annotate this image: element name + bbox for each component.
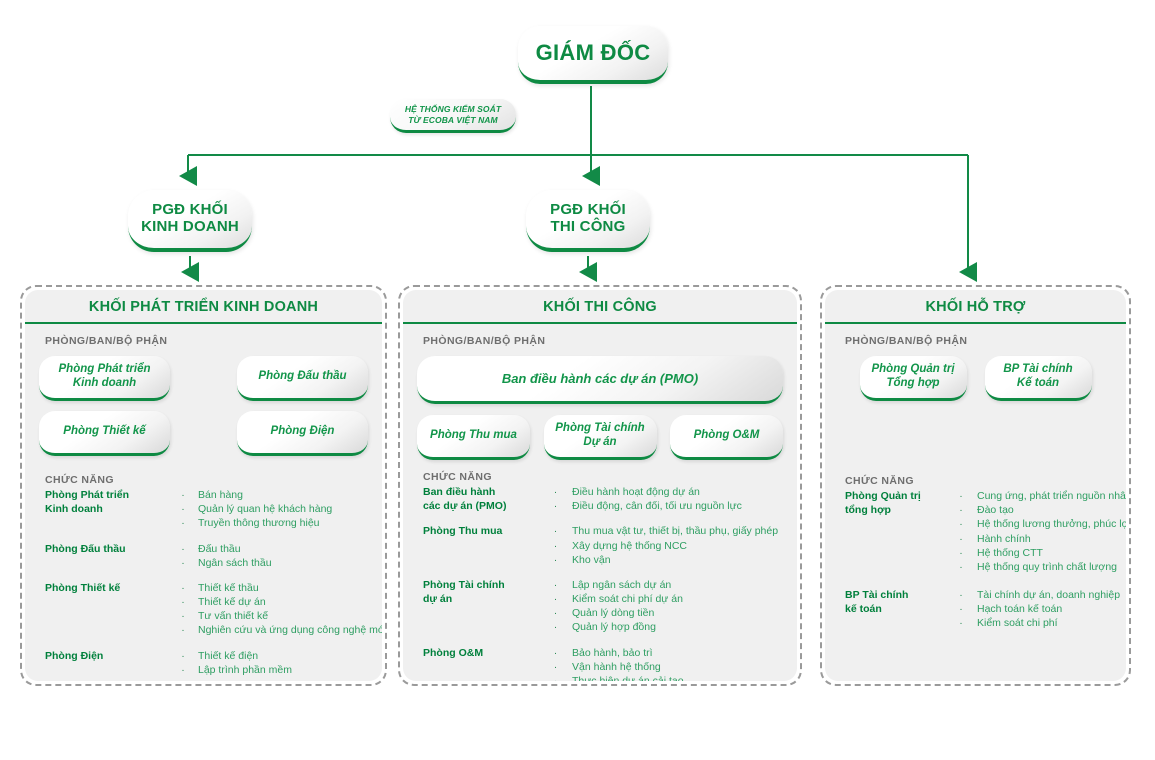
bullet-icon: ·: [945, 517, 977, 531]
function-name-line1: Phòng Tài chính: [423, 578, 539, 592]
bullet-icon: ·: [168, 516, 198, 530]
column-business-development: KHỐI PHÁT TRIỂN KINH DOANH PHÒNG/BAN/BỘ …: [20, 285, 387, 686]
dept-line2: Dự án: [555, 436, 644, 450]
column-title-business: KHỐI PHÁT TRIỂN KINH DOANH: [25, 290, 382, 324]
bullet-icon: ·: [168, 502, 198, 516]
dept-line1: Phòng Điện: [271, 425, 335, 439]
org-chart-canvas: GIÁM ĐỐC HỆ THỐNG KIỂM SOÁT TỪ ECOBA VIỆ…: [0, 0, 1155, 760]
function-name-line2: kế toán: [845, 602, 945, 616]
department-box-dien[interactable]: Phòng Điện: [237, 411, 368, 456]
function-group: Phòng Điện · · Thiết kế điện Lập trình p…: [45, 649, 368, 677]
function-group: Phòng Đấu thầu · · Đấu thầu Ngân sách th…: [45, 542, 368, 570]
functions-heading-2: CHỨC NĂNG: [403, 460, 797, 483]
functions-list-1: Phòng Phát triển Kinh doanh · · · Bán hà…: [25, 486, 382, 677]
function-item: Xây dựng hệ thống NCC: [572, 539, 783, 553]
node-deputy-business[interactable]: PGĐ KHỐI KINH DOANH: [128, 190, 252, 252]
function-bullets: · ·: [168, 649, 198, 677]
function-item: Hạch toán kế toán: [977, 602, 1120, 616]
function-group: Phòng Thiết kế · · · · Thiết kế thầu Thi…: [45, 581, 368, 638]
function-name-line1: Phòng Đấu thầu: [45, 542, 168, 556]
column-construction: KHỐI THI CÔNG PHÒNG/BAN/BỘ PHẬN Ban điều…: [398, 285, 802, 686]
function-name-line1: Phòng Thu mua: [423, 524, 539, 538]
departments-grid-3: Phòng Quản trị Tổng hợp BP Tài chính Kế …: [825, 347, 1126, 401]
bullet-icon: ·: [945, 489, 977, 503]
bullet-icon: ·: [168, 623, 198, 637]
function-bullets: · · ·: [945, 588, 977, 631]
function-item: Đào tạo: [977, 503, 1126, 517]
function-bullets: · · · ·: [168, 581, 198, 638]
function-name-line2: dự án: [423, 592, 539, 606]
dept-line1: Phòng Quản trị: [871, 363, 954, 377]
control-system-badge[interactable]: HỆ THỐNG KIỂM SOÁT TỪ ECOBA VIỆT NAM: [390, 99, 516, 133]
function-item: Cung ứng, phát triển nguồn nhân lực: [977, 489, 1126, 503]
bullet-icon: ·: [945, 616, 977, 630]
column-construction-panel: KHỐI THI CÔNG PHÒNG/BAN/BỘ PHẬN Ban điều…: [403, 290, 797, 681]
function-items: Đấu thầu Ngân sách thầu: [198, 542, 368, 570]
function-name-line2: Kinh doanh: [45, 502, 168, 516]
function-name-line1: BP Tài chính: [845, 588, 945, 602]
function-items: Thu mua vật tư, thiết bị, thầu phụ, giấy…: [572, 524, 783, 567]
dept-line2: Kế toán: [1003, 377, 1072, 391]
functions-heading-1: CHỨC NĂNG: [25, 466, 382, 486]
bullet-icon: ·: [539, 592, 572, 606]
function-name-line1: Phòng Điện: [45, 649, 168, 663]
function-item: Điều động, cân đối, tối ưu nguồn lực: [572, 499, 783, 513]
function-name-line2: các dự án (PMO): [423, 499, 539, 513]
department-box-quan-tri-tong-hop[interactable]: Phòng Quản trị Tổng hợp: [860, 356, 967, 401]
node-director[interactable]: GIÁM ĐỐC: [518, 26, 668, 84]
node-deputy-business-line1: PGĐ KHỐI: [141, 202, 239, 219]
department-box-pmo[interactable]: Ban điều hành các dự án (PMO): [417, 356, 783, 404]
column-title-construction: KHỐI THI CÔNG: [403, 290, 797, 324]
function-item: Hệ thống quy trình chất lượng: [977, 560, 1126, 574]
function-name-line1: Phòng Phát triển: [45, 488, 168, 502]
bullet-icon: ·: [945, 602, 977, 616]
function-items: Cung ứng, phát triển nguồn nhân lực Đào …: [977, 489, 1126, 574]
functions-heading-3: CHỨC NĂNG: [825, 401, 1126, 487]
bullet-icon: ·: [539, 485, 572, 499]
function-bullets: · · · · · ·: [945, 489, 977, 574]
function-item: Tư vấn thiết kế: [198, 609, 382, 623]
function-item: Nghiên cứu và ứng dụng công nghệ mới: [198, 623, 382, 637]
dept-line1: Phòng Đấu thầu: [258, 370, 346, 384]
function-items: Điều hành hoạt động dự án Điều động, cân…: [572, 485, 783, 513]
node-director-label: GIÁM ĐỐC: [536, 41, 651, 66]
function-item: Đấu thầu: [198, 542, 368, 556]
function-items: Tài chính dự án, doanh nghiệp Hạch toán …: [977, 588, 1120, 631]
department-row: Phòng Phát triển Kinh doanh Phòng Đấu th…: [39, 356, 368, 401]
function-items: Thiết kế điện Lập trình phần mềm: [198, 649, 368, 677]
function-item: Kiểm soát chi phí dự án: [572, 592, 783, 606]
function-item: Quản lý hợp đồng: [572, 620, 783, 634]
bullet-icon: ·: [539, 524, 572, 538]
function-item: Vận hành hệ thống: [572, 660, 783, 674]
function-items: Thiết kế thầu Thiết kế dự án Tư vấn thiế…: [198, 581, 382, 638]
function-group: Phòng Quản trị tổng hợp · · · · · · Cung…: [845, 489, 1112, 574]
function-bullets: · · ·: [539, 646, 572, 681]
bullet-icon: ·: [945, 532, 977, 546]
dept-line1: Phòng Thu mua: [430, 429, 517, 443]
function-group: Phòng Tài chính dự án · · · · Lập ngân s…: [423, 578, 783, 635]
function-group-name: Phòng Thiết kế: [45, 581, 168, 638]
function-items: Bảo hành, bảo trì Vận hành hệ thống Thực…: [572, 646, 783, 681]
department-box-tai-chinh-du-an[interactable]: Phòng Tài chính Dự án: [544, 415, 657, 460]
function-group: Phòng Thu mua · · · Thu mua vật tư, thiế…: [423, 524, 783, 567]
function-group-name: Phòng Quản trị tổng hợp: [845, 489, 945, 574]
function-group-name: Phòng Tài chính dự án: [423, 578, 539, 635]
department-row: Phòng Quản trị Tổng hợp BP Tài chính Kế …: [839, 356, 1112, 401]
function-item: Hệ thống CTT: [977, 546, 1126, 560]
department-row: Phòng Thu mua Phòng Tài chính Dự án Phòn…: [417, 415, 783, 460]
node-deputy-construction-line1: PGĐ KHỐI: [550, 202, 626, 219]
column-business-development-panel: KHỐI PHÁT TRIỂN KINH DOANH PHÒNG/BAN/BỘ …: [25, 290, 382, 681]
bullet-icon: ·: [168, 663, 198, 677]
function-bullets: · ·: [168, 542, 198, 570]
function-items: Lập ngân sách dự án Kiểm soát chi phí dự…: [572, 578, 783, 635]
function-item: Thu mua vật tư, thiết bị, thầu phụ, giấy…: [572, 524, 783, 538]
bullet-icon: ·: [168, 581, 198, 595]
bullet-icon: ·: [539, 646, 572, 660]
function-item: Kho vận: [572, 553, 783, 567]
function-bullets: · · ·: [539, 524, 572, 567]
function-item: Quản lý quan hệ khách hàng: [198, 502, 368, 516]
function-group: Phòng O&M · · · Bảo hành, bảo trì Vận hà…: [423, 646, 783, 681]
function-group-name: Phòng Thu mua: [423, 524, 539, 567]
dept-line1: Phòng Tài chính: [555, 422, 644, 436]
department-box-om[interactable]: Phòng O&M: [670, 415, 783, 460]
function-item: Hành chính: [977, 532, 1126, 546]
dept-line2: Tổng hợp: [871, 377, 954, 391]
function-bullets: · · · ·: [539, 578, 572, 635]
department-box-dau-thau[interactable]: Phòng Đấu thầu: [237, 356, 368, 401]
dept-line1: Phòng O&M: [694, 429, 760, 443]
function-group: BP Tài chính kế toán · · · Tài chính dự …: [845, 588, 1112, 631]
function-item: Bảo hành, bảo trì: [572, 646, 783, 660]
function-group-name: Phòng Đấu thầu: [45, 542, 168, 570]
bullet-icon: ·: [945, 588, 977, 602]
department-box-tai-chinh-ke-toan[interactable]: BP Tài chính Kế toán: [985, 356, 1092, 401]
function-item: Lập ngân sách dự án: [572, 578, 783, 592]
bullet-icon: ·: [539, 553, 572, 567]
bullet-icon: ·: [539, 674, 572, 681]
bullet-icon: ·: [168, 556, 198, 570]
function-group-name: BP Tài chính kế toán: [845, 588, 945, 631]
function-item: Tài chính dự án, doanh nghiệp: [977, 588, 1120, 602]
control-system-line2: TỪ ECOBA VIỆT NAM: [408, 115, 497, 126]
function-item: Thiết kế điện: [198, 649, 368, 663]
bullet-icon: ·: [539, 606, 572, 620]
node-deputy-construction[interactable]: PGĐ KHỐI THI CÔNG: [526, 190, 650, 252]
bullet-icon: ·: [168, 609, 198, 623]
bullet-icon: ·: [539, 539, 572, 553]
column-title-support: KHỐI HỖ TRỢ: [825, 290, 1126, 324]
column-support-panel: KHỐI HỖ TRỢ PHÒNG/BAN/BỘ PHẬN Phòng Quản…: [825, 290, 1126, 681]
bullet-icon: ·: [539, 620, 572, 634]
departments-grid-1: Phòng Phát triển Kinh doanh Phòng Đấu th…: [25, 347, 382, 456]
department-row: Phòng Thiết kế Phòng Điện: [39, 411, 368, 456]
bullet-icon: ·: [539, 499, 572, 513]
function-name-line1: Phòng Thiết kế: [45, 581, 168, 595]
function-item: Lập trình phần mềm: [198, 663, 368, 677]
dept-line1: Ban điều hành các dự án (PMO): [502, 371, 698, 387]
node-deputy-business-line2: KINH DOANH: [141, 219, 239, 236]
function-group-name: Phòng Điện: [45, 649, 168, 677]
functions-list-3: Phòng Quản trị tổng hợp · · · · · · Cung…: [825, 487, 1126, 631]
function-group: Phòng Phát triển Kinh doanh · · · Bán hà…: [45, 488, 368, 531]
bullet-icon: ·: [539, 578, 572, 592]
function-item: Điều hành hoạt động dự án: [572, 485, 783, 499]
function-group-name: Ban điều hành các dự án (PMO): [423, 485, 539, 513]
bullet-icon: ·: [168, 542, 198, 556]
dept-line2: Kinh doanh: [59, 377, 151, 391]
control-system-line1: HỆ THỐNG KIỂM SOÁT: [405, 104, 501, 115]
function-item: Bán hàng: [198, 488, 368, 502]
function-item: Kiểm soát chi phí: [977, 616, 1120, 630]
function-bullets: · ·: [539, 485, 572, 513]
function-item: Quản lý dòng tiền: [572, 606, 783, 620]
function-item: Truyền thông thương hiệu: [198, 516, 368, 530]
departments-heading-3: PHÒNG/BAN/BỘ PHẬN: [825, 324, 1126, 347]
departments-heading-2: PHÒNG/BAN/BỘ PHẬN: [403, 324, 797, 347]
bullet-icon: ·: [945, 560, 977, 574]
dept-line1: Phòng Phát triển: [59, 363, 151, 377]
bullet-icon: ·: [168, 488, 198, 502]
bullet-icon: ·: [168, 649, 198, 663]
function-name-line1: Ban điều hành: [423, 485, 539, 499]
function-group-name: Phòng Phát triển Kinh doanh: [45, 488, 168, 531]
dept-line1: BP Tài chính: [1003, 363, 1072, 377]
function-group-name: Phòng O&M: [423, 646, 539, 681]
column-support: KHỐI HỖ TRỢ PHÒNG/BAN/BỘ PHẬN Phòng Quản…: [820, 285, 1131, 686]
bullet-icon: ·: [168, 595, 198, 609]
bullet-icon: ·: [945, 503, 977, 517]
department-box-thiet-ke[interactable]: Phòng Thiết kế: [39, 411, 170, 456]
function-item: Thực hiện dự án cải tạo: [572, 674, 783, 681]
function-group: Ban điều hành các dự án (PMO) · · Điều h…: [423, 485, 783, 513]
function-item: Hệ thống lương thưởng, phúc lợi: [977, 517, 1126, 531]
bullet-icon: ·: [539, 660, 572, 674]
function-name-line1: Phòng Quản trị: [845, 489, 945, 503]
function-item: Ngân sách thầu: [198, 556, 368, 570]
function-items: Bán hàng Quản lý quan hệ khách hàng Truy…: [198, 488, 368, 531]
department-box-phat-trien-kinh-doanh[interactable]: Phòng Phát triển Kinh doanh: [39, 356, 170, 401]
departments-grid-2: Ban điều hành các dự án (PMO) Phòng Thu …: [403, 347, 797, 460]
functions-list-2: Ban điều hành các dự án (PMO) · · Điều h…: [403, 483, 797, 681]
function-item: Thiết kế thầu: [198, 581, 382, 595]
dept-line1: Phòng Thiết kế: [63, 425, 145, 439]
departments-heading-1: PHÒNG/BAN/BỘ PHẬN: [25, 324, 382, 347]
bullet-icon: ·: [945, 546, 977, 560]
function-name-line1: Phòng O&M: [423, 646, 539, 660]
function-name-line2: tổng hợp: [845, 503, 945, 517]
function-item: Thiết kế dự án: [198, 595, 382, 609]
node-deputy-construction-line2: THI CÔNG: [550, 219, 626, 236]
function-bullets: · · ·: [168, 488, 198, 531]
department-box-thu-mua[interactable]: Phòng Thu mua: [417, 415, 530, 460]
